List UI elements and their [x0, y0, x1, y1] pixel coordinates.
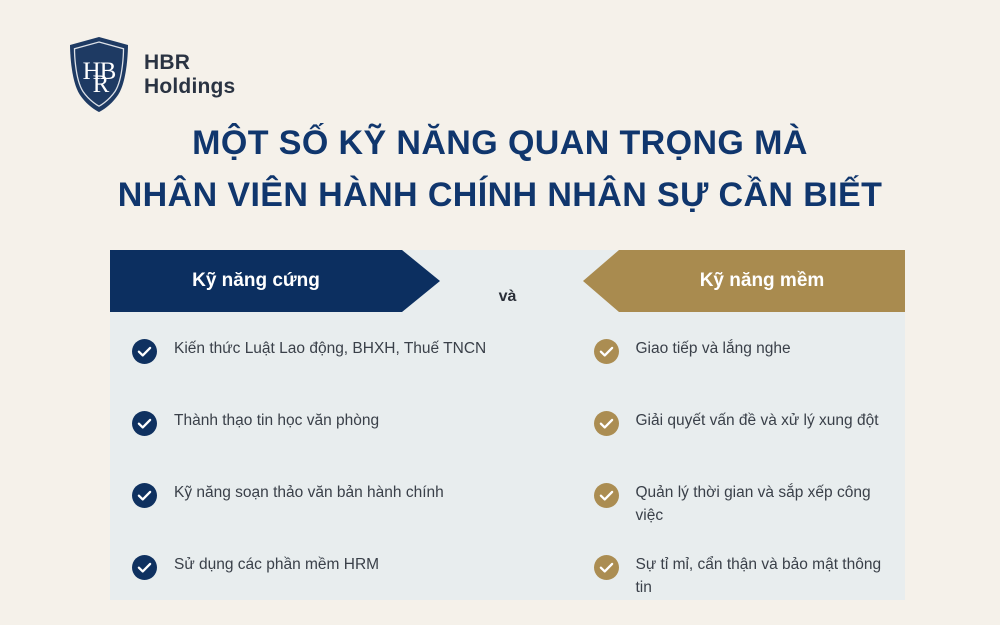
check-circle-icon — [594, 339, 619, 364]
check-circle-icon — [132, 555, 157, 580]
list-item-label: Sự tỉ mỉ, cẩn thận và bảo mật thông tin — [636, 554, 890, 599]
list-item: Kiến thức Luật Lao động, BHXH, Thuế TNCN — [132, 338, 488, 390]
list-item: Giải quyết vấn đề và xử lý xung đột — [594, 410, 890, 462]
brand-logo: HB R HBR Holdings — [68, 36, 235, 114]
svg-text:R: R — [93, 71, 110, 98]
check-circle-icon — [132, 483, 157, 508]
list-item-label: Kiến thức Luật Lao động, BHXH, Thuế TNCN — [174, 338, 486, 361]
list-item: Quản lý thời gian và sắp xếp công việc — [594, 482, 890, 534]
brand-name-line1: HBR — [144, 51, 235, 75]
check-circle-icon — [594, 411, 619, 436]
list-item: Sử dụng các phần mềm HRM — [132, 554, 488, 606]
skills-columns: Kiến thức Luật Lao động, BHXH, Thuế TNCN… — [110, 312, 905, 600]
list-item: Thành thạo tin học văn phòng — [132, 410, 488, 462]
hard-skills-heading: Kỹ năng cứng — [192, 270, 320, 292]
list-item: Sự tỉ mỉ, cẩn thận và bảo mật thông tin — [594, 554, 890, 606]
list-item: Giao tiếp và lắng nghe — [594, 338, 890, 390]
list-item: Kỹ năng soạn thảo văn bản hành chính — [132, 482, 488, 534]
infographic-canvas: HB R HBR Holdings MỘT SỐ KỸ NĂNG QUAN TR… — [0, 0, 1000, 625]
check-circle-icon — [132, 411, 157, 436]
title-line-2: NHÂN VIÊN HÀNH CHÍNH NHÂN SỰ CẦN BIẾT — [0, 170, 1000, 222]
list-item-label: Giải quyết vấn đề và xử lý xung đột — [636, 410, 879, 433]
list-item-label: Quản lý thời gian và sắp xếp công việc — [636, 482, 890, 527]
list-item-label: Giao tiếp và lắng nghe — [636, 338, 791, 361]
soft-skills-banner: Kỹ năng mềm — [583, 250, 905, 312]
page-title: MỘT SỐ KỸ NĂNG QUAN TRỌNG MÀ NHÂN VIÊN H… — [0, 118, 1000, 221]
conjunction-text: và — [499, 288, 517, 306]
hbr-shield-icon: HB R — [68, 36, 130, 114]
list-item-label: Thành thạo tin học văn phòng — [174, 410, 379, 433]
check-circle-icon — [594, 555, 619, 580]
soft-skills-heading: Kỹ năng mềm — [700, 270, 825, 292]
check-circle-icon — [132, 339, 157, 364]
hard-skills-list: Kiến thức Luật Lao động, BHXH, Thuế TNCN… — [110, 312, 508, 600]
title-line-1: MỘT SỐ KỸ NĂNG QUAN TRỌNG MÀ — [0, 118, 1000, 170]
list-item-label: Sử dụng các phần mềm HRM — [174, 554, 379, 577]
list-item-label: Kỹ năng soạn thảo văn bản hành chính — [174, 482, 444, 505]
check-circle-icon — [594, 483, 619, 508]
hard-skills-banner: Kỹ năng cứng — [110, 250, 440, 312]
soft-skills-list: Giao tiếp và lắng nghe Giải quyết vấn đề… — [508, 312, 906, 600]
brand-name-line2: Holdings — [144, 75, 235, 99]
banner-row: Kỹ năng cứng Kỹ năng mềm và — [110, 250, 905, 312]
